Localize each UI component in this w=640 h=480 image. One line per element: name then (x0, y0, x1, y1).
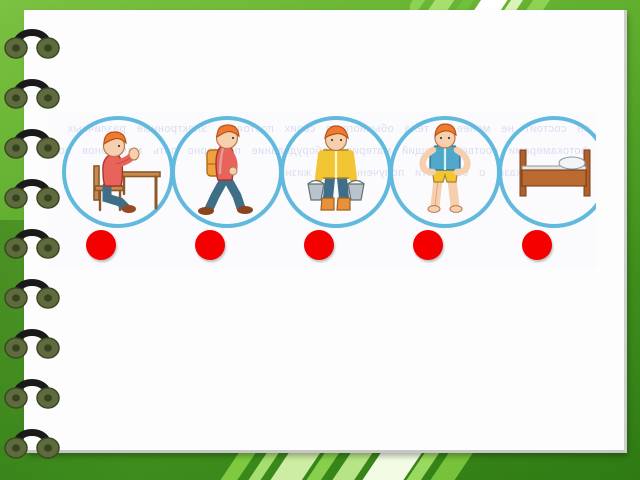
slide-root: он состоит не менее а тела обычного в св… (0, 0, 640, 480)
answer-marker-4[interactable] (413, 230, 443, 260)
worksheet-scan: он состоит не менее а тела обычного в св… (48, 112, 596, 268)
answer-marker-5[interactable] (522, 230, 552, 260)
picture-circle-4[interactable] (389, 116, 501, 228)
answer-marker-1[interactable] (86, 230, 116, 260)
binding-ring (4, 424, 60, 464)
binding-ring (4, 124, 60, 164)
picture-circle-2[interactable] (171, 116, 283, 228)
bed-with-pillow-icon (498, 116, 596, 228)
child-carrying-buckets-icon (280, 116, 392, 228)
picture-circles-row (48, 112, 596, 236)
picture-circle-5[interactable] (498, 116, 596, 228)
binding-ring (4, 74, 60, 114)
answer-marker-3[interactable] (304, 230, 334, 260)
binding-ring (4, 224, 60, 264)
spiral-binding (0, 0, 80, 480)
binding-ring (4, 24, 60, 64)
binding-ring (4, 324, 60, 364)
binding-ring (4, 274, 60, 314)
answer-marker-2[interactable] (195, 230, 225, 260)
child-exercising-icon (389, 116, 501, 228)
picture-circle-3[interactable] (280, 116, 392, 228)
binding-ring (4, 174, 60, 214)
binding-ring (4, 374, 60, 414)
answer-markers-row (48, 230, 596, 266)
child-walking-with-backpack-icon (171, 116, 283, 228)
